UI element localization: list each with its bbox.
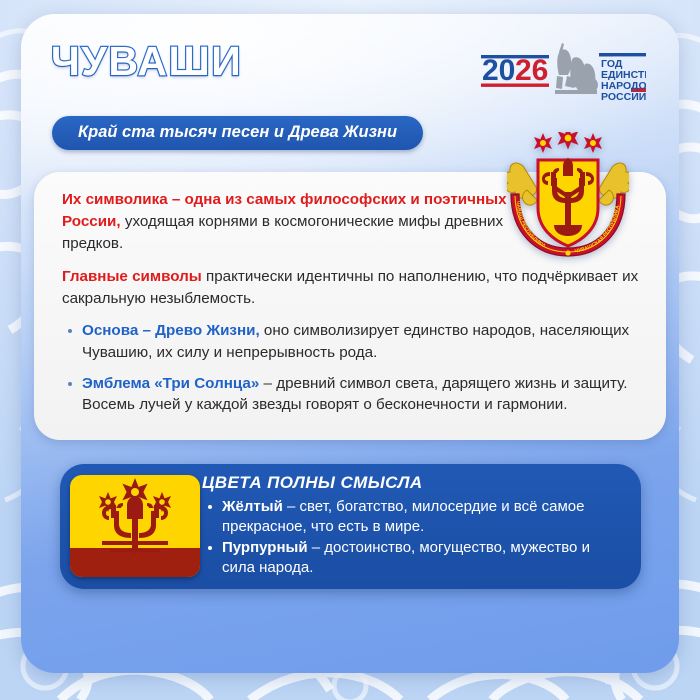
colors-list: Жёлтый – свет, богатство, милосердие и в… [202,497,627,578]
paragraph-main-symbols-highlight: Главные символы [62,268,202,285]
monument-silhouette-icon [555,43,598,94]
list-item: Пурпурный – достоинство, могущество, муж… [202,538,627,578]
list-item: Основа – Древо Жизни, оно символизирует … [62,320,642,363]
year-2026-logo: 20 26 ГОД ЕДИНСТВА НАРОДОВ РОССИИ [481,38,646,104]
bullet-tree-highlight: Основа – Древо Жизни, [82,322,260,339]
list-item: Жёлтый – свет, богатство, милосердие и в… [202,497,627,537]
bullet-yellow-strong: Жёлтый [222,498,283,515]
bullet-suns-highlight: Эмблема «Три Солнца» [82,375,259,392]
list-item: Эмблема «Три Солнца» – древний символ св… [62,373,642,416]
paragraph-main-symbols: Главные символы практически идентичны по… [62,266,642,310]
svg-text:26: 26 [515,54,548,87]
subtitle-text: Край ста тысяч песен и Древа Жизни [78,123,397,141]
paragraph-symbolism-rest: уходящая корнями в космогонические мифы … [62,213,503,252]
svg-text:РОССИИ: РОССИИ [601,91,646,103]
chuvashia-coat-of-arms-icon: ЧӐВАШ РЕСПУБЛИКИ ЧУВАШСКАЯ РЕСПУБЛИКА [507,132,629,258]
colors-meaning-panel: ЦВЕТА ПОЛНЫ СМЫСЛА Жёлтый – свет, богатс… [60,464,641,589]
svg-text:20: 20 [482,54,515,87]
infographic-root: ЧУВАШИ Край ста тысяч песен и Древа Жизн… [0,0,700,700]
bullet-purple-strong: Пурпурный [222,539,308,556]
subtitle-pill: Край ста тысяч песен и Древа Жизни [52,116,423,150]
symbols-list: Основа – Древо Жизни, оно символизирует … [62,320,642,415]
page-title: ЧУВАШИ [51,38,242,85]
colors-panel-heading: ЦВЕТА ПОЛНЫ СМЫСЛА [202,473,627,493]
chuvashia-flag-icon [70,475,200,577]
